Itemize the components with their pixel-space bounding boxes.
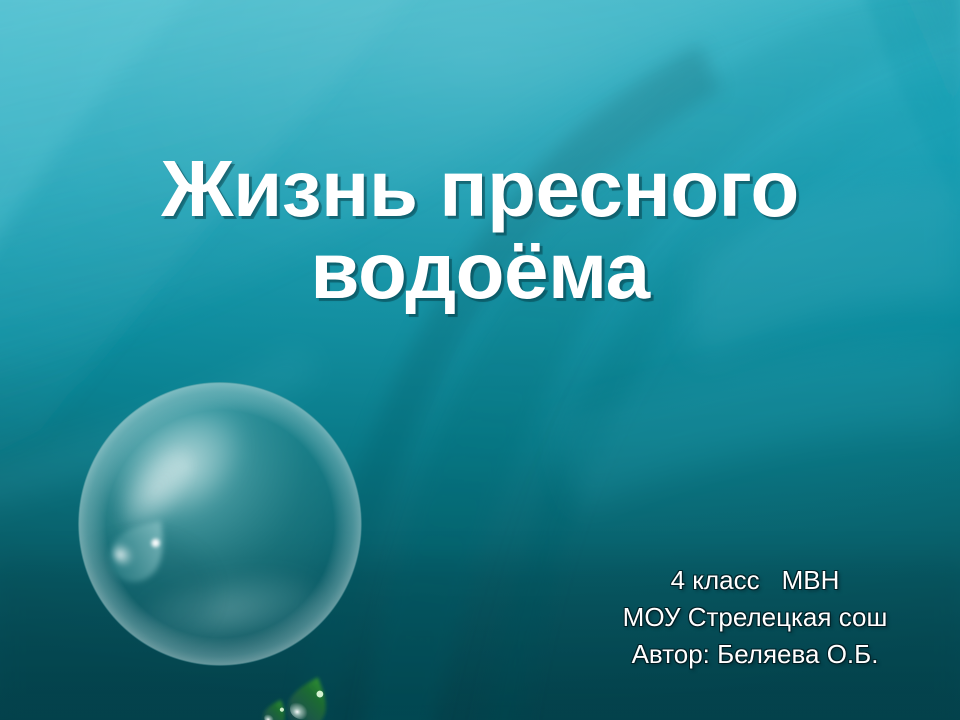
credits-block: 4 классМВН МОУ Стрелецкая сош Автор: Бел… — [560, 562, 950, 673]
credit-line-author: Автор: Беляева О.Б. — [560, 636, 950, 673]
slide-canvas: Жизнь пресного водоёма 4 классМВН МОУ Ст… — [0, 0, 960, 720]
credit-class-label: 4 класс — [671, 565, 760, 595]
bubble-rim-light — [78, 382, 362, 666]
credit-class-code: МВН — [782, 565, 840, 595]
credit-line-class: 4 классМВН — [560, 562, 950, 599]
credit-line-school: МОУ Стрелецкая сош — [560, 599, 950, 636]
water-bubble — [74, 378, 366, 670]
bubble-svg — [74, 378, 366, 670]
